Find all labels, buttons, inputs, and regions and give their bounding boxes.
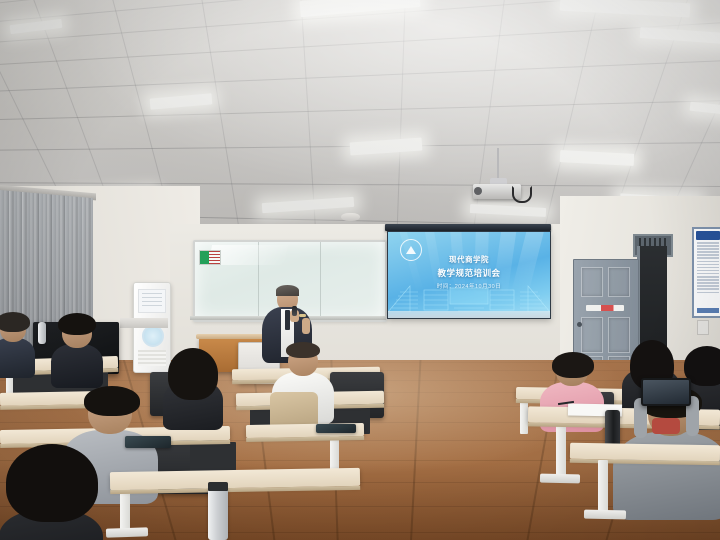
person-torso [51, 344, 103, 388]
tablet-device[interactable] [125, 436, 171, 448]
safety-notice-icon [199, 250, 221, 265]
student-desk [110, 468, 360, 490]
desk-leg [598, 460, 608, 514]
presenter-watch [299, 314, 306, 317]
notice-board-header [696, 231, 720, 240]
person-hair [286, 342, 320, 358]
face-mask-icon [652, 418, 680, 434]
projector-cable [512, 186, 532, 203]
microphone-icon [292, 306, 297, 316]
person-hair [0, 312, 30, 332]
wall-notice-board [692, 227, 720, 318]
desk-foot [540, 474, 580, 484]
student-desk [570, 443, 720, 462]
front-counter [120, 318, 168, 328]
slide-artwork [388, 278, 550, 312]
person-hair [6, 444, 98, 522]
classroom-photo: 现代商学院 教学规范培训会 时间：2024年10月30日 [0, 0, 720, 540]
projection-screen: 现代商学院 教学规范培训会 时间：2024年10月30日 [387, 231, 551, 319]
door-seal-sticker [586, 305, 624, 311]
tablet-device-2[interactable] [316, 424, 356, 433]
slide-org-line: 现代商学院 [388, 254, 550, 265]
screen-housing [385, 224, 551, 231]
presenter-hand-right [302, 318, 310, 334]
presenter-hair [276, 285, 299, 296]
person-torso [0, 338, 35, 378]
person-hair [552, 352, 594, 378]
projector-pole [497, 148, 499, 182]
bottle-cap [208, 482, 228, 491]
desk-foot [106, 527, 148, 537]
projector-lens [474, 187, 482, 195]
person-hair [58, 313, 96, 335]
smoke-detector-icon [341, 213, 360, 221]
person-hair [84, 386, 140, 416]
wall-switch-plate[interactable] [697, 320, 709, 335]
person-hair [168, 348, 218, 400]
desk-foot [584, 510, 626, 520]
water-bottle [208, 488, 228, 540]
door-knob-icon[interactable] [577, 322, 582, 327]
desk-leg [520, 400, 528, 434]
water-bottle-far [38, 322, 46, 344]
desk-leg [556, 424, 566, 476]
smartphone[interactable] [641, 378, 691, 406]
